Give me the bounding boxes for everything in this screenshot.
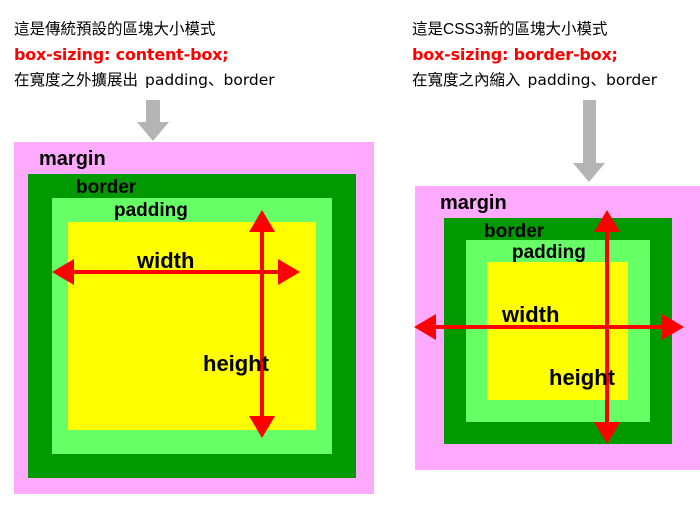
flow-arrow-right-head <box>573 163 605 182</box>
height-label-left: height <box>203 353 269 375</box>
height-arrowhead-left-bottom <box>249 416 275 438</box>
width-arrowhead-right-start <box>414 314 436 340</box>
border-label-left: border <box>76 178 136 197</box>
width-arrowhead-right-end <box>662 314 684 340</box>
content-box-caption: 這是傳統預設的區塊大小模式 box-sizing: content-box; 在… <box>14 22 275 88</box>
caption-line-3-prefix: 在寬度之外擴展出 <box>14 72 138 89</box>
flow-arrow-right-shaft <box>583 100 596 165</box>
margin-box-left: margin border padding <box>14 142 374 494</box>
height-arrowhead-left-top <box>249 210 275 232</box>
height-line-right <box>605 222 609 434</box>
caption-line-3: 在寬度之內縮入padding、border <box>412 73 657 89</box>
padding-box-right: padding <box>466 240 650 422</box>
width-arrowhead-left-end <box>278 259 300 285</box>
width-label-left: width <box>137 250 194 272</box>
border-box-left: border padding <box>28 174 356 478</box>
height-line-left <box>260 222 264 428</box>
caption-line-1: 這是CSS3新的區塊大小模式 <box>412 22 657 38</box>
height-arrowhead-right-top <box>594 210 620 232</box>
caption-line-2-code: box-sizing: border-box; <box>412 47 657 63</box>
border-box-right: border padding <box>444 218 672 444</box>
content-box-panel: 這是傳統預設的區塊大小模式 box-sizing: content-box; 在… <box>0 0 400 514</box>
flow-arrow-left-head <box>137 122 169 141</box>
width-arrowhead-left-start <box>52 259 74 285</box>
padding-label-left: padding <box>114 201 188 220</box>
padding-label-right: padding <box>512 243 586 262</box>
padding-box-left: padding <box>52 198 332 454</box>
caption-line-3-prefix: 在寬度之內縮入 <box>412 72 521 89</box>
margin-label-left: margin <box>39 149 106 169</box>
width-label-right: width <box>502 304 559 326</box>
border-box-panel: 這是CSS3新的區塊大小模式 box-sizing: border-box; 在… <box>400 0 700 514</box>
margin-label-right: margin <box>440 193 507 213</box>
caption-line-2-code: box-sizing: content-box; <box>14 47 275 63</box>
caption-line-3-mono: padding、border <box>528 71 658 89</box>
height-label-right: height <box>549 367 615 389</box>
caption-line-1: 這是傳統預設的區塊大小模式 <box>14 22 275 38</box>
caption-line-3: 在寬度之外擴展出padding、border <box>14 73 275 89</box>
border-label-right: border <box>484 222 544 241</box>
caption-line-3-mono: padding、border <box>145 71 275 89</box>
border-box-caption: 這是CSS3新的區塊大小模式 box-sizing: border-box; 在… <box>412 22 657 88</box>
height-arrowhead-right-bottom <box>594 422 620 444</box>
